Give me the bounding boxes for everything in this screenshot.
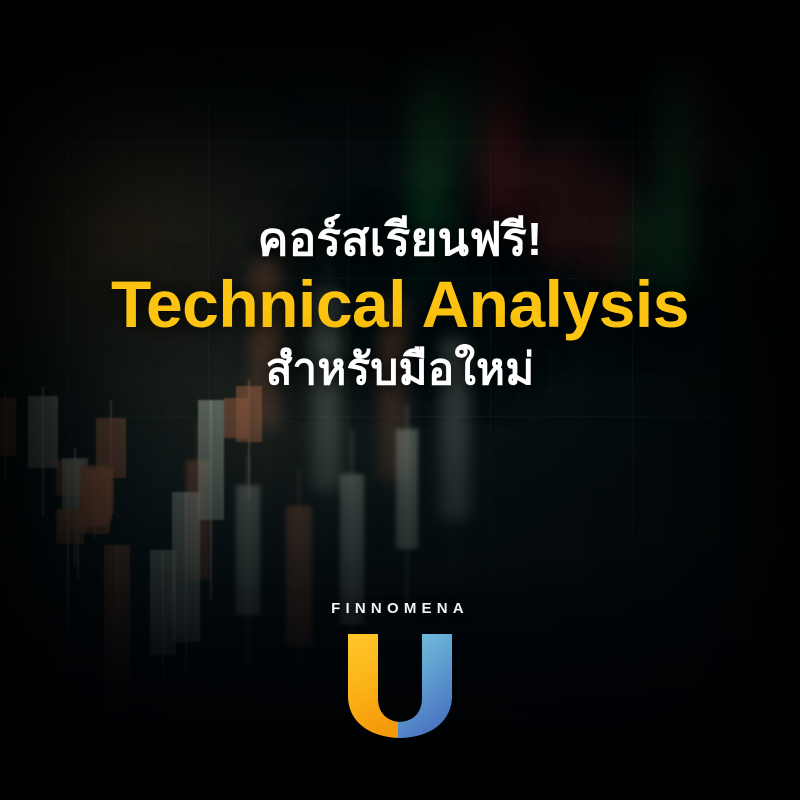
finnomena-u-logo: FINNOMENA xyxy=(0,600,800,740)
headline-line-1: คอร์สเรียนฟรี! xyxy=(0,214,800,266)
finnomena-wordmark: FINNOMENA xyxy=(331,600,469,617)
headline-line-3: สำหรับมือใหม่ xyxy=(0,345,800,394)
headline-block: คอร์สเรียนฟรี! Technical Analysis สำหรับ… xyxy=(0,214,800,394)
poster-canvas: คอร์สเรียนฟรี! Technical Analysis สำหรับ… xyxy=(0,0,800,800)
headline-line-2-title: Technical Analysis xyxy=(0,270,800,339)
u-mark-icon xyxy=(345,632,455,740)
